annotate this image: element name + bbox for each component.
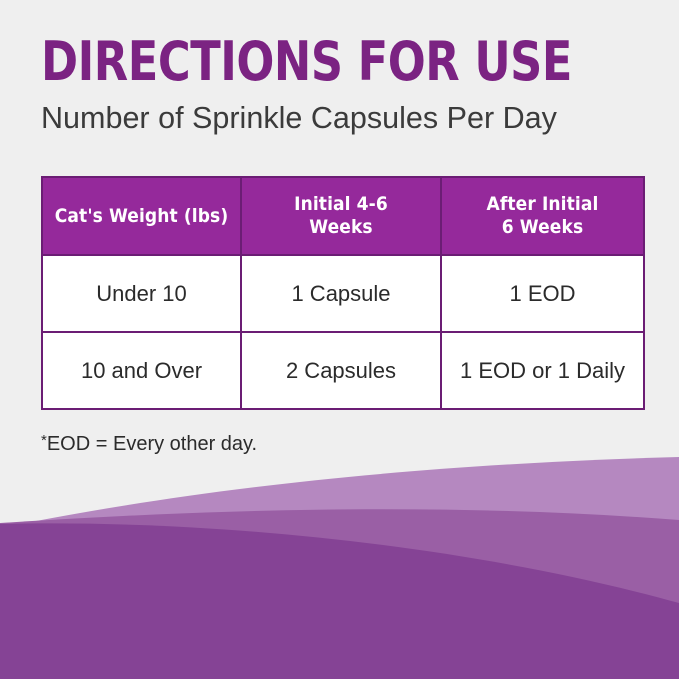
table-body: Under 10 1 Capsule 1 EOD 10 and Over 2 C… xyxy=(42,255,644,409)
table-header-row: Cat's Weight (lbs) Initial 4-6 Weeks Aft… xyxy=(42,177,644,255)
cell-after-dose: 1 EOD xyxy=(441,255,644,332)
table-row: Under 10 1 Capsule 1 EOD xyxy=(42,255,644,332)
column-header-line-2: Weeks xyxy=(248,216,434,239)
cell-initial-dose: 2 Capsules xyxy=(241,332,441,409)
column-header-line-1: After Initial xyxy=(448,193,637,216)
heading-block: DIRECTIONS FOR USE Number of Sprinkle Ca… xyxy=(41,34,618,136)
column-header-cats-weight: Cat's Weight (lbs) xyxy=(42,177,241,255)
column-header-line-1: Cat's Weight (lbs) xyxy=(49,205,234,228)
cell-after-dose: 1 EOD or 1 Daily xyxy=(441,332,644,409)
table-row: 10 and Over 2 Capsules 1 EOD or 1 Daily xyxy=(42,332,644,409)
cell-weight: Under 10 xyxy=(42,255,241,332)
page-title: DIRECTIONS FOR USE xyxy=(41,34,572,90)
cell-weight: 10 and Over xyxy=(42,332,241,409)
column-header-initial-weeks: Initial 4-6 Weeks xyxy=(241,177,441,255)
footnote-text: EOD = Every other day. xyxy=(47,433,257,455)
dosage-table: Cat's Weight (lbs) Initial 4-6 Weeks Aft… xyxy=(41,176,645,410)
column-header-after-initial-weeks: After Initial 6 Weeks xyxy=(441,177,644,255)
directions-for-use-panel: DIRECTIONS FOR USE Number of Sprinkle Ca… xyxy=(0,0,679,679)
wave-mid-layer xyxy=(0,509,679,679)
table-header: Cat's Weight (lbs) Initial 4-6 Weeks Aft… xyxy=(42,177,644,255)
column-header-line-1: Initial 4-6 xyxy=(248,193,434,216)
page-subtitle: Number of Sprinkle Capsules Per Day xyxy=(41,100,609,136)
wave-dark-layer xyxy=(0,523,679,679)
cell-initial-dose: 1 Capsule xyxy=(241,255,441,332)
column-header-line-2: 6 Weeks xyxy=(448,216,637,239)
wave-light-layer xyxy=(0,457,679,679)
footnote: *EOD = Every other day. xyxy=(41,429,257,456)
